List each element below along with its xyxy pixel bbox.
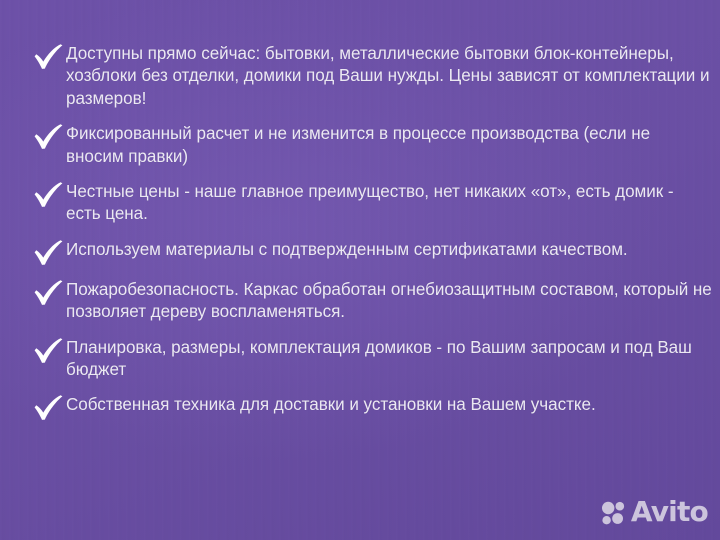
list-item: Фиксированный расчет и не изменится в пр… bbox=[0, 123, 720, 168]
list-item: Собственная техника для доставки и устан… bbox=[0, 394, 720, 421]
list-item: Пожаробезопасность. Каркас обработан огн… bbox=[0, 279, 720, 324]
list-item: Планировка, размеры, комплектация домико… bbox=[0, 337, 720, 382]
check-icon bbox=[33, 44, 64, 70]
avito-dots-icon bbox=[601, 500, 626, 525]
check-icon bbox=[33, 280, 64, 306]
check-icon bbox=[33, 395, 64, 421]
promo-slide: Доступны прямо сейчас: бытовки, металлич… bbox=[0, 0, 720, 540]
avito-watermark: Avito bbox=[601, 498, 708, 526]
list-item-text: Честные цены - наше главное преимущество… bbox=[66, 181, 712, 226]
check-icon bbox=[33, 240, 64, 266]
list-item: Используем материалы с подтвержденным се… bbox=[0, 239, 720, 266]
list-item-text: Собственная техника для доставки и устан… bbox=[66, 394, 712, 416]
check-icon bbox=[33, 182, 64, 208]
check-icon bbox=[33, 338, 64, 364]
list-item-text: Фиксированный расчет и не изменится в пр… bbox=[66, 123, 712, 168]
list-item: Доступны прямо сейчас: бытовки, металлич… bbox=[0, 43, 720, 110]
avito-wordmark: Avito bbox=[631, 498, 708, 526]
list-item-text: Планировка, размеры, комплектация домико… bbox=[66, 337, 712, 382]
list-item-text: Доступны прямо сейчас: бытовки, металлич… bbox=[66, 43, 712, 110]
check-icon bbox=[33, 124, 64, 150]
benefits-list: Доступны прямо сейчас: бытовки, металлич… bbox=[0, 43, 720, 434]
list-item: Честные цены - наше главное преимущество… bbox=[0, 181, 720, 226]
list-item-text: Пожаробезопасность. Каркас обработан огн… bbox=[66, 279, 712, 324]
list-item-text: Используем материалы с подтвержденным се… bbox=[66, 239, 712, 261]
